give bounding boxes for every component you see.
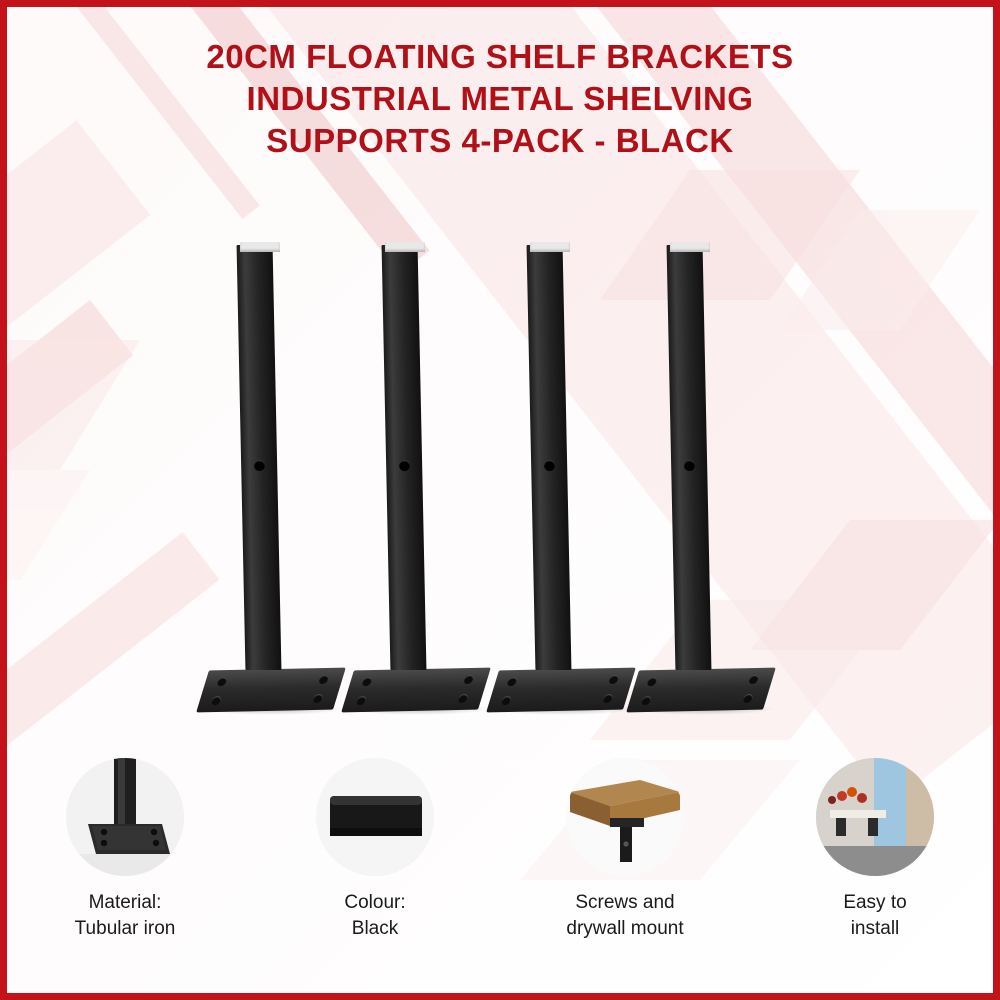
feature-caption: Easy to install <box>843 890 906 942</box>
feature-installation: Easy to install <box>750 758 1000 973</box>
product-listing-image: 20CM FLOATING SHELF BRACKETS INDUSTRIAL … <box>0 0 1000 1000</box>
plate-screw-hole <box>602 694 614 703</box>
install-shelf-icon <box>816 758 934 876</box>
caption-line: Screws and <box>566 890 683 916</box>
plate-screw-hole <box>608 675 620 684</box>
feature-row: Material: Tubular iron Colour: Black <box>0 758 1000 973</box>
feature-caption: Screws and drywall mount <box>566 890 683 942</box>
plate-screw-hole <box>506 677 518 686</box>
bracket-post-cap <box>670 242 710 252</box>
bracket-plate-graphic <box>66 758 184 876</box>
bracket-3 <box>485 245 645 715</box>
caption-line: Colour: <box>344 890 405 916</box>
bracket-post-cap <box>385 242 425 252</box>
bracket-post <box>382 245 427 670</box>
bracket-post-cap <box>530 242 570 252</box>
caption-line: Black <box>344 916 405 942</box>
plate-screw-hole <box>318 675 330 684</box>
bracket-post-hole <box>684 460 695 471</box>
caption-line: Tubular iron <box>75 916 176 942</box>
caption-line: install <box>843 916 906 942</box>
feature-colour: Colour: Black <box>250 758 500 973</box>
feature-caption: Colour: Black <box>344 890 405 942</box>
bracket-mounting-plate <box>626 668 776 713</box>
bracket-post <box>237 245 282 670</box>
bracket-post-hole <box>544 460 555 471</box>
shelf-with-bracket-icon <box>566 758 684 876</box>
plate-screw-hole <box>500 696 512 705</box>
bracket-post <box>527 245 572 670</box>
bracket-post-hole <box>254 460 265 471</box>
plate-screw-hole <box>355 696 367 705</box>
plate-screw-hole <box>463 675 475 684</box>
bracket-post-cap <box>240 242 280 252</box>
bracket-post-hole <box>399 460 410 471</box>
shelf-bracket-graphic <box>566 758 684 876</box>
caption-line: Material: <box>75 890 176 916</box>
product-photo <box>175 215 825 715</box>
plate-screw-hole <box>361 677 373 686</box>
plate-screw-hole <box>312 694 324 703</box>
page-title: 20CM FLOATING SHELF BRACKETS INDUSTRIAL … <box>0 36 1000 162</box>
plate-screw-hole <box>457 694 469 703</box>
bracket-2 <box>340 245 500 715</box>
black-swatch-graphic <box>316 758 434 876</box>
plate-screw-hole <box>742 694 754 703</box>
feature-caption: Material: Tubular iron <box>75 890 176 942</box>
bracket-post <box>667 245 712 670</box>
bracket-4 <box>625 245 785 715</box>
feature-mounting: Screws and drywall mount <box>500 758 750 973</box>
title-line-3: SUPPORTS 4-PACK - BLACK <box>0 120 1000 162</box>
plate-screw-hole <box>646 677 658 686</box>
title-line-2: INDUSTRIAL METAL SHELVING <box>0 78 1000 120</box>
plate-screw-hole <box>748 675 760 684</box>
caption-line: Easy to <box>843 890 906 916</box>
install-shelf-graphic <box>816 758 934 876</box>
bracket-1 <box>195 245 355 715</box>
bracket-mounting-plate <box>341 668 491 713</box>
plate-screw-hole <box>210 696 222 705</box>
caption-line: drywall mount <box>566 916 683 942</box>
black-swatch-icon <box>316 758 434 876</box>
bracket-mounting-plate <box>196 668 346 713</box>
bracket-mounting-plate <box>486 668 636 713</box>
plate-screw-hole <box>216 677 228 686</box>
plate-screw-hole <box>640 696 652 705</box>
title-line-1: 20CM FLOATING SHELF BRACKETS <box>0 36 1000 78</box>
bracket-plate-icon <box>66 758 184 876</box>
feature-material: Material: Tubular iron <box>0 758 250 973</box>
